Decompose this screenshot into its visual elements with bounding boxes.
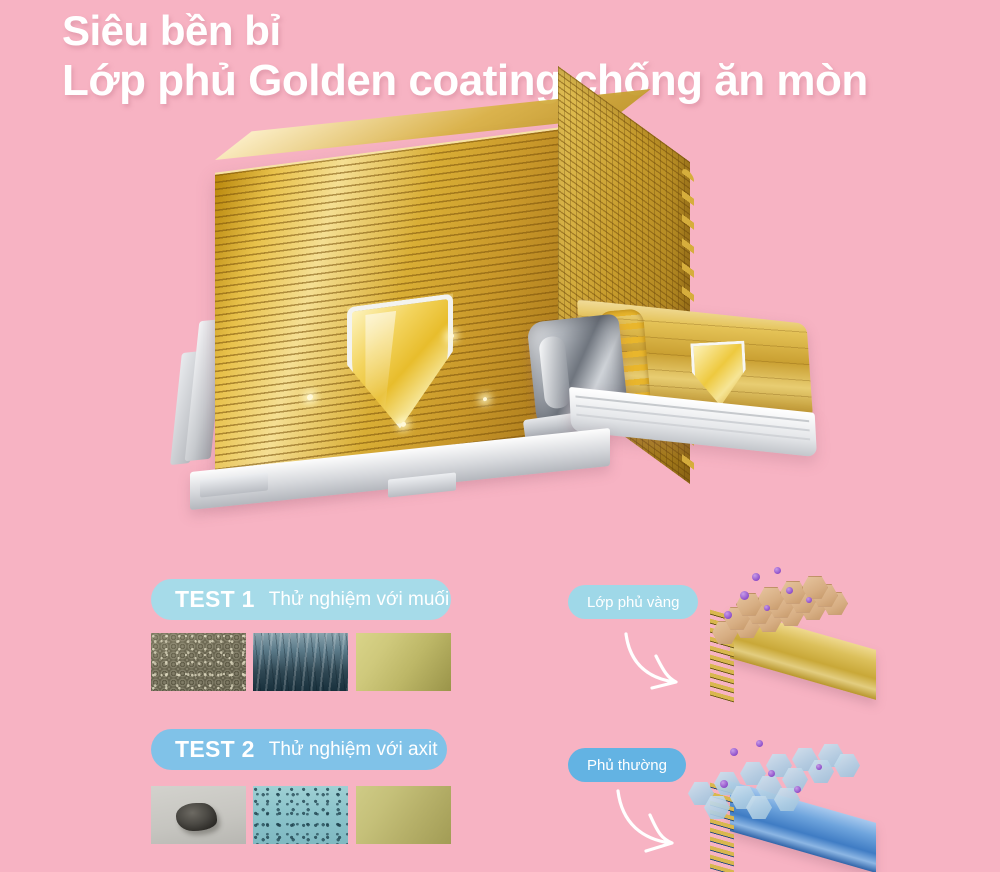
- test-2-sample-2: [253, 786, 348, 844]
- test-2-badge: TEST 2 Thử nghiệm với axit: [151, 729, 447, 770]
- corrosive-particle: [756, 740, 763, 747]
- gold-coating-tag: Lớp phủ vàng: [568, 585, 698, 619]
- test-1-sample-1: [151, 633, 246, 691]
- gold-shield-icon: [347, 293, 453, 435]
- corrosive-particle: [724, 611, 732, 619]
- corrosive-particle: [768, 770, 775, 777]
- test-1-description: Thử nghiệm với muối: [269, 589, 449, 611]
- sparkle-icon: [483, 397, 487, 402]
- sparkle-icon: [307, 394, 313, 401]
- corrosive-particle: [786, 587, 793, 594]
- test-1-sample-2: [253, 633, 348, 691]
- corrosive-particle: [740, 591, 749, 600]
- test-2-description: Thử nghiệm với axit: [269, 739, 438, 761]
- test-2-sample-3: [356, 786, 451, 844]
- corrosive-particle: [816, 764, 822, 770]
- fin-corrugated-edge: [710, 783, 734, 872]
- corrosive-particle: [752, 573, 760, 581]
- corrosive-particle: [764, 605, 770, 611]
- page-title: Siêu bền bỉ Lớp phủ Golden coating chống…: [62, 8, 982, 105]
- promo-page: Siêu bền bỉ Lớp phủ Golden coating chống…: [0, 0, 1000, 872]
- test-2-sample-1: [151, 786, 246, 844]
- sparkle-icon: [401, 422, 406, 428]
- corrosive-particle: [806, 597, 812, 603]
- normal-coating-tag: Phủ thường: [568, 748, 686, 782]
- corrosive-particle: [774, 567, 781, 574]
- sparkle-icon: [449, 333, 454, 339]
- title-line-2: Lớp phủ Golden coating chống ăn mòn: [62, 57, 982, 105]
- hero-product-image: [170, 120, 830, 530]
- gold-coating-diagram: [690, 565, 900, 715]
- test-1-code: TEST 1: [175, 586, 255, 613]
- test-1-badge: TEST 1 Thử nghiệm với muối: [151, 579, 451, 620]
- test-1-sample-3: [356, 633, 451, 691]
- test-2-code: TEST 2: [175, 736, 255, 763]
- normal-coating-diagram: [690, 738, 900, 872]
- corrosive-particle: [730, 748, 738, 756]
- corrosive-particle: [794, 786, 801, 793]
- corrosive-particle: [720, 780, 728, 788]
- title-line-1: Siêu bền bỉ: [62, 8, 982, 53]
